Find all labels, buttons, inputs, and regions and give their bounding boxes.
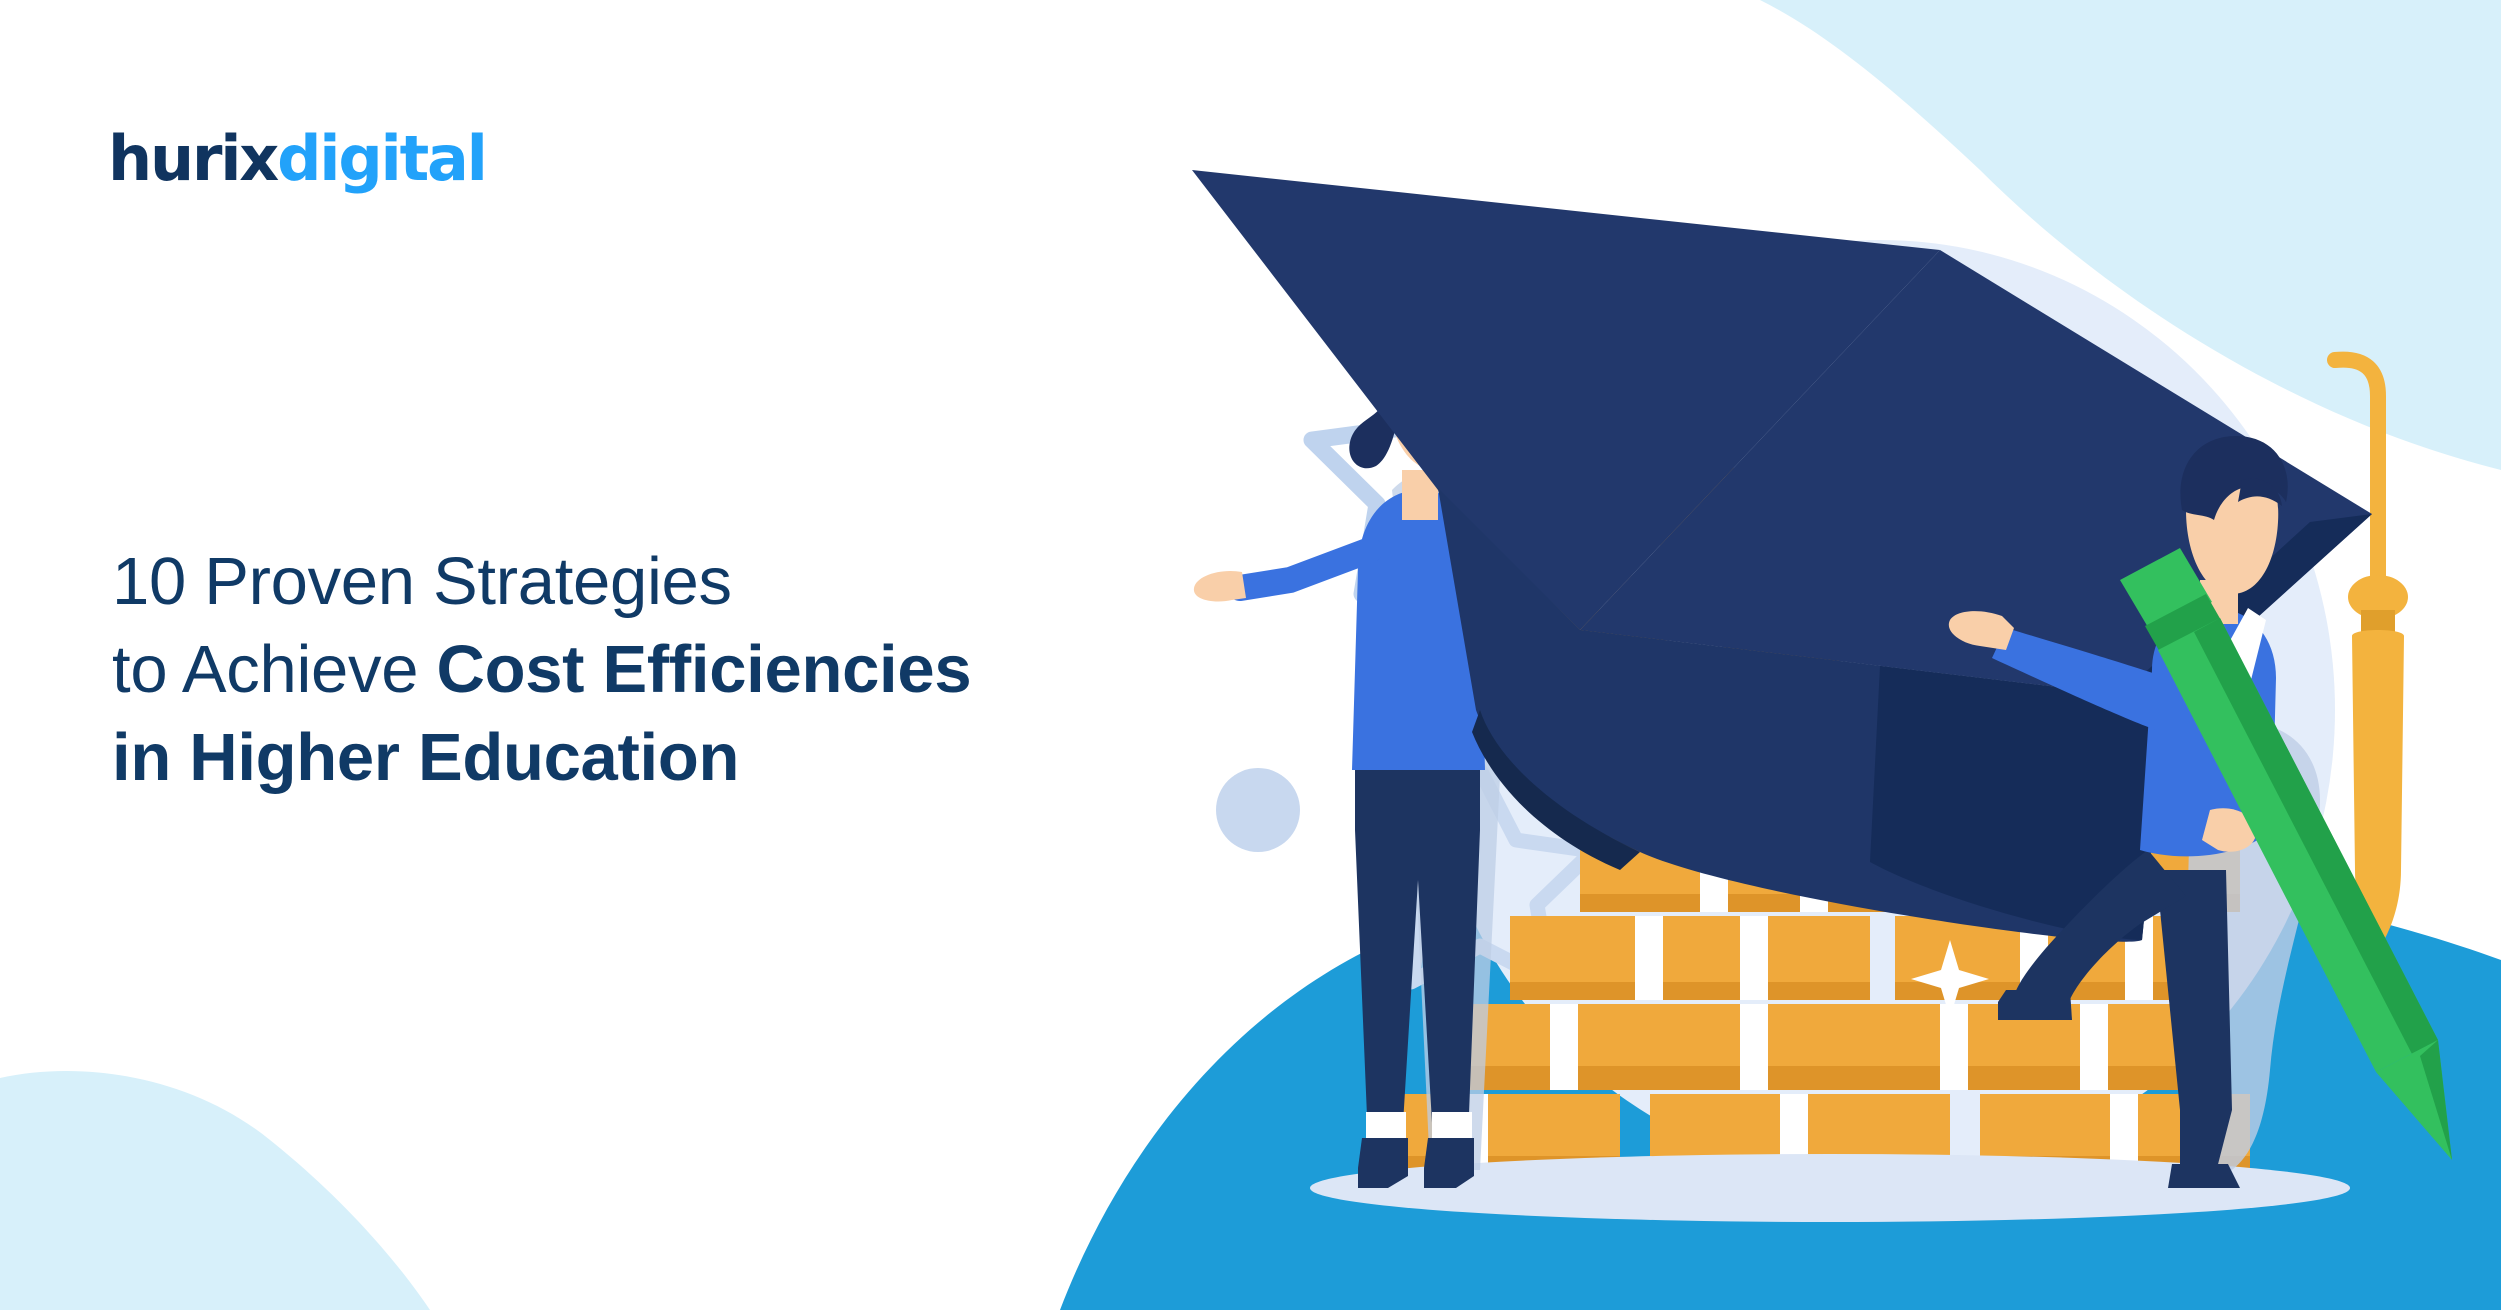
- tassel-icon: [2335, 360, 2408, 950]
- woman-boot: [1358, 1138, 1408, 1188]
- woman-boot: [1424, 1138, 1474, 1188]
- headline-text-bold-2: in Higher Education: [112, 720, 739, 795]
- man-boot-back: [2168, 1164, 2240, 1188]
- headline-line-3: in Higher Education: [112, 714, 1232, 802]
- woman-hand-left: [1194, 571, 1246, 602]
- man-boot-front: [1998, 990, 2072, 1020]
- decorative-dot: [1216, 768, 1300, 852]
- brand-logo[interactable]: hurixdigital: [108, 128, 486, 190]
- logo-text-digital: digital: [277, 122, 486, 195]
- woman-cuff: [1432, 1112, 1472, 1138]
- woman-arm-left: [1240, 550, 1370, 588]
- coin-highlight: [1550, 1004, 1578, 1090]
- coin-highlight: [1740, 916, 1768, 1000]
- wave-bottom-left: [0, 1071, 430, 1310]
- headline-text-thin-2: to Achieve: [112, 632, 436, 707]
- page-title: 10 Proven Strategies to Achieve Cost Eff…: [112, 538, 1232, 802]
- headline-line-1: 10 Proven Strategies: [112, 538, 1232, 626]
- banner-canvas: hurixdigital 10 Proven Strategies to Ach…: [0, 0, 2501, 1310]
- coin-highlight: [1635, 916, 1663, 1000]
- coin-row-shade: [1510, 982, 1870, 1000]
- headline-line-2: to Achieve Cost Efficiencies: [112, 626, 1232, 714]
- coin-highlight: [1940, 1004, 1968, 1090]
- headline-text-bold-1: Cost Efficiencies: [436, 632, 971, 707]
- coin-highlight: [1740, 1004, 1768, 1090]
- hero-illustration: S: [1180, 110, 2501, 1310]
- woman-cuff: [1366, 1112, 1406, 1138]
- logo-text-hurix: hurix: [108, 122, 277, 195]
- headline-text-thin-1: 10 Proven Strategies: [112, 544, 732, 619]
- coin-highlight: [2080, 1004, 2108, 1090]
